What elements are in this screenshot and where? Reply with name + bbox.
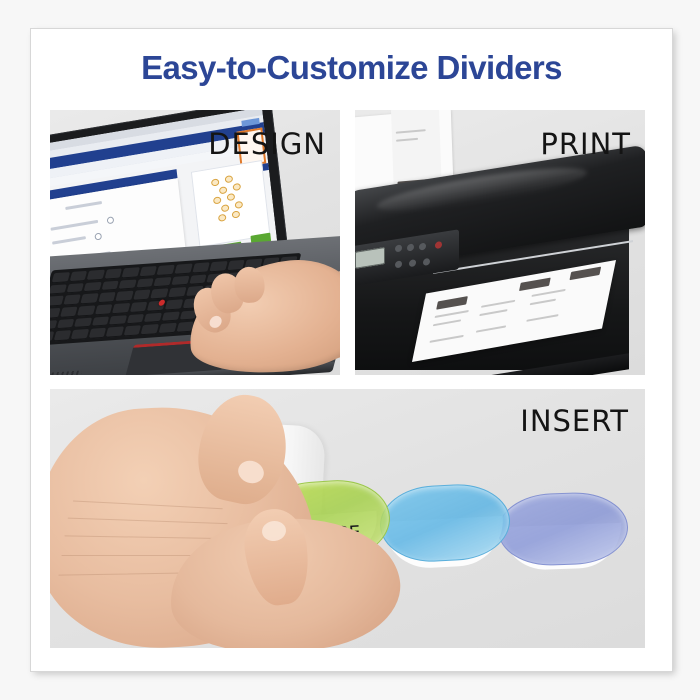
- fingernail: [207, 313, 224, 330]
- printer-button[interactable]: [409, 259, 416, 267]
- preview-dot: [221, 204, 230, 212]
- preview-dot: [235, 201, 244, 209]
- product-card: Easy-to-Customize Dividers: [31, 29, 672, 671]
- panel-caption-design: DESIGN: [208, 130, 326, 159]
- finger: [233, 266, 265, 304]
- preview-dot: [219, 186, 228, 194]
- printed-label: [436, 296, 468, 310]
- panel-caption-insert: INSERT: [520, 407, 629, 436]
- skin-crease: [68, 518, 228, 525]
- printer-lcd-display: [355, 247, 385, 269]
- laptop-vent: [50, 370, 82, 375]
- panel-insert[interactable]: FINANCE INSERT: [50, 389, 645, 648]
- printed-label-line: [526, 314, 558, 322]
- preview-dot: [232, 210, 241, 218]
- page-title: Easy-to-Customize Dividers: [31, 49, 672, 87]
- preview-dot: [227, 193, 236, 201]
- screenshot-stage: Easy-to-Customize Dividers: [0, 0, 700, 700]
- panel-design[interactable]: DESIGN: [50, 110, 340, 375]
- printed-label-line: [531, 289, 565, 297]
- panel-caption-print: PRINT: [540, 130, 631, 159]
- dialog-field-line: [53, 236, 87, 245]
- dialog-radio: [106, 216, 114, 224]
- printed-label-line: [481, 300, 515, 308]
- preview-dot: [225, 175, 234, 183]
- printed-label-line: [479, 309, 507, 316]
- printer-button[interactable]: [395, 260, 402, 268]
- divider-tab-blue: [378, 482, 512, 565]
- printer-button[interactable]: [419, 243, 426, 251]
- printer-output-slot: [417, 353, 629, 375]
- printed-label: [569, 267, 601, 281]
- printer-button[interactable]: [407, 243, 414, 251]
- printed-label-line: [476, 325, 506, 332]
- printed-label-line: [433, 319, 461, 326]
- dialog-field-line: [51, 220, 98, 231]
- printed-label: [519, 278, 551, 292]
- dialog-radio: [94, 233, 102, 241]
- dialog-heading-line: [65, 201, 101, 210]
- printed-label-line: [434, 310, 468, 318]
- panel-print[interactable]: PRINT: [355, 110, 645, 375]
- printer-button[interactable]: [395, 244, 402, 252]
- printer-power-button[interactable]: [435, 241, 442, 249]
- preview-dot: [211, 179, 220, 187]
- skin-crease: [64, 535, 219, 539]
- printed-label-line: [396, 138, 418, 142]
- printed-label-line: [396, 129, 426, 134]
- skin-crease: [73, 500, 223, 509]
- printed-label-line: [530, 299, 556, 306]
- preview-dot: [233, 183, 242, 191]
- printer-button[interactable]: [423, 258, 430, 266]
- preview-dot: [218, 214, 227, 222]
- printed-label-line: [429, 335, 463, 343]
- divider-tab-purple: [497, 491, 629, 567]
- preview-dot: [213, 196, 222, 204]
